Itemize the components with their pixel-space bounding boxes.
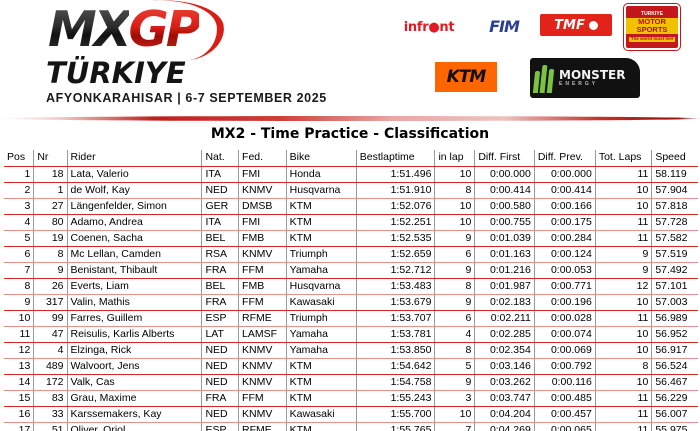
row-nat: FRA — [202, 262, 239, 278]
motorsports-logo-mid: MOTOR SPORTS — [626, 18, 678, 34]
row-fed: FFM — [239, 390, 287, 406]
row-bike: Kawasaki — [286, 406, 356, 422]
row-rider: Everts, Liam — [67, 278, 202, 294]
fim-logo: FIM — [480, 16, 528, 36]
row-rider: Adamo, Andrea — [67, 214, 202, 230]
row-in-lap: 9 — [435, 262, 475, 278]
row-rider: Valin, Mathis — [67, 294, 202, 310]
row-bestlaptime: 1:55.700 — [356, 406, 435, 422]
row-bike: KTM — [286, 358, 356, 374]
monster-energy-logo: MONSTER ENERGY — [530, 58, 640, 98]
row-bestlaptime: 1:53.483 — [356, 278, 435, 294]
table-row[interactable]: 1633Karssemakers, KayNEDKNMVKawasaki1:55… — [4, 406, 698, 422]
row-pos: 17 — [4, 422, 34, 431]
row-diff-prev: 0:00.124 — [534, 246, 595, 262]
results-table: Pos Nr Rider Nat. Fed. Bike Bestlaptime … — [4, 150, 698, 431]
row-diff-prev: 0:00.166 — [534, 198, 595, 214]
event-country: TÜRKIYE — [46, 58, 318, 88]
row-diff-prev: 0:00.457 — [534, 406, 595, 422]
table-row[interactable]: 9317Valin, MathisFRAFFMKawasaki1:53.6799… — [4, 294, 698, 310]
row-speed: 57.818 — [652, 198, 698, 214]
column-header-diff-prev[interactable]: Diff. Prev. — [534, 150, 595, 166]
row-speed: 56.952 — [652, 326, 698, 342]
row-nr: 80 — [34, 214, 67, 230]
header-red-divider — [0, 116, 700, 121]
row-rider: Reisulis, Karlis Alberts — [67, 326, 202, 342]
row-diff-first: 0:04.269 — [475, 422, 535, 431]
row-in-lap: 5 — [435, 358, 475, 374]
mxgp-logo-mx: MX — [48, 1, 129, 58]
row-rider: Coenen, Sacha — [67, 230, 202, 246]
row-tot-laps: 8 — [595, 358, 652, 374]
event-location-date: AFYONKARAHISAR | 6-7 SEPTEMBER 2025 — [46, 91, 318, 105]
row-nat: NED — [202, 342, 239, 358]
row-speed: 56.229 — [652, 390, 698, 406]
row-nr: 99 — [34, 310, 67, 326]
row-speed: 57.904 — [652, 182, 698, 198]
column-header-speed[interactable]: Speed — [652, 150, 698, 166]
row-nr: 33 — [34, 406, 67, 422]
row-tot-laps: 11 — [595, 166, 652, 182]
row-in-lap: 8 — [435, 182, 475, 198]
tmf-logo-label: TMF — [554, 18, 585, 33]
row-bestlaptime: 1:53.679 — [356, 294, 435, 310]
row-fed: KNMV — [239, 246, 287, 262]
table-row[interactable]: 480Adamo, AndreaITAFMIKTM1:52.251100:00.… — [4, 214, 698, 230]
motorsports-logo-bottom: The world must feel — [629, 37, 675, 42]
row-pos: 4 — [4, 214, 34, 230]
row-rider: Karssemakers, Kay — [67, 406, 202, 422]
row-bike: Triumph — [286, 310, 356, 326]
row-diff-first: 0:01.163 — [475, 246, 535, 262]
row-fed: FMB — [239, 230, 287, 246]
row-in-lap: 9 — [435, 374, 475, 390]
table-row[interactable]: 327Längenfelder, SimonGERDMSBKTM1:52.076… — [4, 198, 698, 214]
row-bike: KTM — [286, 422, 356, 431]
column-header-nat[interactable]: Nat. — [202, 150, 239, 166]
row-tot-laps: 9 — [595, 262, 652, 278]
row-diff-prev: 0:00.028 — [534, 310, 595, 326]
row-fed: DMSB — [239, 198, 287, 214]
row-bike: Triumph — [286, 246, 356, 262]
row-in-lap: 10 — [435, 166, 475, 182]
row-in-lap: 10 — [435, 214, 475, 230]
row-bestlaptime: 1:55.765 — [356, 422, 435, 431]
results-table-container: Pos Nr Rider Nat. Fed. Bike Bestlaptime … — [0, 150, 700, 431]
row-bike: KTM — [286, 198, 356, 214]
row-bestlaptime: 1:53.781 — [356, 326, 435, 342]
column-header-pos[interactable]: Pos — [4, 150, 34, 166]
row-rider: Elzinga, Rick — [67, 342, 202, 358]
infront-logo: infr●nt — [398, 18, 460, 36]
row-fed: KNMV — [239, 406, 287, 422]
row-nr: 51 — [34, 422, 67, 431]
row-diff-first: 0:02.183 — [475, 294, 535, 310]
row-pos: 16 — [4, 406, 34, 422]
row-diff-first: 0:03.262 — [475, 374, 535, 390]
column-header-nr[interactable]: Nr — [34, 150, 67, 166]
row-pos: 3 — [4, 198, 34, 214]
row-in-lap: 4 — [435, 326, 475, 342]
column-header-bestlaptime[interactable]: Bestlaptime — [356, 150, 435, 166]
results-table-body: 118Lata, ValerioITAFMIHonda1:51.496100:0… — [4, 166, 698, 431]
ktm-logo: KTM — [435, 62, 497, 92]
column-header-bike[interactable]: Bike — [286, 150, 356, 166]
row-bestlaptime: 1:54.758 — [356, 374, 435, 390]
row-pos: 7 — [4, 262, 34, 278]
monster-claw-icon — [534, 63, 555, 93]
row-nat: ESP — [202, 310, 239, 326]
row-in-lap: 3 — [435, 390, 475, 406]
row-nr: 26 — [34, 278, 67, 294]
row-fed: FFM — [239, 294, 287, 310]
row-nat: ESP — [202, 422, 239, 431]
row-diff-first: 0:01.216 — [475, 262, 535, 278]
row-nr: 489 — [34, 358, 67, 374]
table-row[interactable]: 13489Walvoort, JensNEDKNMVKTM1:54.64250:… — [4, 358, 698, 374]
column-header-fed[interactable]: Fed. — [239, 150, 287, 166]
row-bestlaptime: 1:52.712 — [356, 262, 435, 278]
row-diff-prev: 0:00.074 — [534, 326, 595, 342]
row-bestlaptime: 1:52.076 — [356, 198, 435, 214]
event-header: MXGP TÜRKIYE AFYONKARAHISAR | 6-7 SEPTEM… — [0, 0, 700, 112]
row-in-lap: 7 — [435, 422, 475, 431]
row-nat: NED — [202, 374, 239, 390]
row-bike: Yamaha — [286, 262, 356, 278]
row-bike: Kawasaki — [286, 294, 356, 310]
tmf-dot-icon — [589, 21, 598, 30]
monster-logo-text: MONSTER ENERGY — [559, 69, 625, 87]
row-fed: KNMV — [239, 342, 287, 358]
table-row[interactable]: 118Lata, ValerioITAFMIHonda1:51.496100:0… — [4, 166, 698, 182]
row-tot-laps: 11 — [595, 310, 652, 326]
row-bike: KTM — [286, 230, 356, 246]
row-diff-prev: 0:00.792 — [534, 358, 595, 374]
row-pos: 14 — [4, 374, 34, 390]
row-nr: 47 — [34, 326, 67, 342]
row-in-lap: 10 — [435, 406, 475, 422]
row-rider: Oliver, Oriol — [67, 422, 202, 431]
row-tot-laps: 9 — [595, 246, 652, 262]
row-nat: BEL — [202, 278, 239, 294]
row-tot-laps: 10 — [595, 198, 652, 214]
row-fed: FMI — [239, 214, 287, 230]
column-header-in-lap[interactable]: in lap — [435, 150, 475, 166]
row-speed: 55.975 — [652, 422, 698, 431]
row-pos: 11 — [4, 326, 34, 342]
row-in-lap: 6 — [435, 246, 475, 262]
table-header-row: Pos Nr Rider Nat. Fed. Bike Bestlaptime … — [4, 150, 698, 166]
row-speed: 56.989 — [652, 310, 698, 326]
row-tot-laps: 11 — [595, 214, 652, 230]
row-nat: FRA — [202, 390, 239, 406]
row-rider: Walvoort, Jens — [67, 358, 202, 374]
mxgp-logo-gp: GP — [129, 1, 199, 58]
column-header-rider[interactable]: Rider — [67, 150, 202, 166]
row-fed: FFM — [239, 262, 287, 278]
row-rider: Längenfelder, Simon — [67, 198, 202, 214]
row-speed: 56.524 — [652, 358, 698, 374]
monster-logo-sub: ENERGY — [559, 82, 625, 87]
row-pos: 6 — [4, 246, 34, 262]
monster-logo-label: MONSTER — [559, 69, 625, 82]
row-bike: Husqvarna — [286, 278, 356, 294]
row-bestlaptime: 1:54.642 — [356, 358, 435, 374]
row-fed: KNMV — [239, 374, 287, 390]
row-bike: KTM — [286, 390, 356, 406]
row-pos: 5 — [4, 230, 34, 246]
row-bestlaptime: 1:53.707 — [356, 310, 435, 326]
row-speed: 56.467 — [652, 374, 698, 390]
tmf-logo: TMF — [540, 14, 612, 36]
event-branding: MXGP TÜRKIYE AFYONKARAHISAR | 6-7 SEPTEM… — [28, 4, 318, 105]
row-tot-laps: 10 — [595, 326, 652, 342]
row-diff-first: 0:03.146 — [475, 358, 535, 374]
row-bike: Honda — [286, 166, 356, 182]
row-bestlaptime: 1:51.910 — [356, 182, 435, 198]
table-row[interactable]: 14172Valk, CasNEDKNMVKTM1:54.75890:03.26… — [4, 374, 698, 390]
row-speed: 58.119 — [652, 166, 698, 182]
row-speed: 57.492 — [652, 262, 698, 278]
row-diff-prev: 0:00.000 — [534, 166, 595, 182]
row-bestlaptime: 1:52.535 — [356, 230, 435, 246]
row-nat: NED — [202, 358, 239, 374]
row-bike: KTM — [286, 214, 356, 230]
results-table-head: Pos Nr Rider Nat. Fed. Bike Bestlaptime … — [4, 150, 698, 166]
row-nr: 317 — [34, 294, 67, 310]
column-header-tot-laps[interactable]: Tot. Laps — [595, 150, 652, 166]
row-speed: 56.917 — [652, 342, 698, 358]
row-diff-prev: 0:00.053 — [534, 262, 595, 278]
column-header-diff-first[interactable]: Diff. First — [475, 150, 535, 166]
row-diff-first: 0:00.580 — [475, 198, 535, 214]
row-pos: 10 — [4, 310, 34, 326]
row-rider: de Wolf, Kay — [67, 182, 202, 198]
row-speed: 56.007 — [652, 406, 698, 422]
table-row[interactable]: 21de Wolf, KayNEDKNMVHusqvarna1:51.91080… — [4, 182, 698, 198]
row-tot-laps: 11 — [595, 390, 652, 406]
row-tot-laps: 11 — [595, 406, 652, 422]
row-diff-first: 0:00.000 — [475, 166, 535, 182]
row-in-lap: 9 — [435, 230, 475, 246]
row-nr: 172 — [34, 374, 67, 390]
row-nat: NED — [202, 406, 239, 422]
row-speed: 57.519 — [652, 246, 698, 262]
row-diff-first: 0:00.414 — [475, 182, 535, 198]
row-fed: RFME — [239, 422, 287, 431]
row-nat: ITA — [202, 214, 239, 230]
row-diff-prev: 0:00.284 — [534, 230, 595, 246]
row-diff-prev: 0:00.069 — [534, 342, 595, 358]
results-page: MXGP TÜRKIYE AFYONKARAHISAR | 6-7 SEPTEM… — [0, 0, 700, 431]
row-rider: Valk, Cas — [67, 374, 202, 390]
row-diff-first: 0:00.755 — [475, 214, 535, 230]
row-nat: BEL — [202, 230, 239, 246]
row-nr: 27 — [34, 198, 67, 214]
row-pos: 2 — [4, 182, 34, 198]
row-bike: Yamaha — [286, 342, 356, 358]
row-bestlaptime: 1:53.850 — [356, 342, 435, 358]
row-fed: FMI — [239, 166, 287, 182]
row-bestlaptime: 1:55.243 — [356, 390, 435, 406]
motorsports-federation-logo: TURKIYE MOTOR SPORTS The world must feel — [624, 4, 680, 50]
row-nat: ITA — [202, 166, 239, 182]
row-in-lap: 6 — [435, 310, 475, 326]
row-in-lap: 8 — [435, 342, 475, 358]
row-diff-first: 0:01.039 — [475, 230, 535, 246]
row-tot-laps: 10 — [595, 294, 652, 310]
row-tot-laps: 12 — [595, 278, 652, 294]
row-speed: 57.582 — [652, 230, 698, 246]
row-in-lap: 9 — [435, 294, 475, 310]
row-diff-first: 0:03.747 — [475, 390, 535, 406]
row-bike: Husqvarna — [286, 182, 356, 198]
row-nat: LAT — [202, 326, 239, 342]
row-diff-prev: 0:00.116 — [534, 374, 595, 390]
row-pos: 12 — [4, 342, 34, 358]
mxgp-logo: MXGP — [48, 4, 318, 56]
row-fed: KNMV — [239, 182, 287, 198]
row-nat: NED — [202, 182, 239, 198]
row-nat: FRA — [202, 294, 239, 310]
row-in-lap: 8 — [435, 278, 475, 294]
table-row[interactable]: 1751Oliver, OriolESPRFMEKTM1:55.76570:04… — [4, 422, 698, 431]
row-diff-first: 0:02.285 — [475, 326, 535, 342]
row-in-lap: 10 — [435, 198, 475, 214]
row-diff-prev: 0:00.771 — [534, 278, 595, 294]
row-fed: KNMV — [239, 358, 287, 374]
row-diff-first: 0:01.987 — [475, 278, 535, 294]
sponsor-logos: infr●nt FIM TMF TURKIYE MOTOR SPORTS The… — [380, 0, 700, 112]
row-tot-laps: 11 — [595, 422, 652, 431]
row-nr: 19 — [34, 230, 67, 246]
row-nat: RSA — [202, 246, 239, 262]
row-nr: 4 — [34, 342, 67, 358]
row-diff-prev: 0:00.414 — [534, 182, 595, 198]
table-row[interactable]: 826Everts, LiamBELFMBHusqvarna1:53.48380… — [4, 278, 698, 294]
row-speed: 57.728 — [652, 214, 698, 230]
table-row[interactable]: 519Coenen, SachaBELFMBKTM1:52.53590:01.0… — [4, 230, 698, 246]
row-bestlaptime: 1:52.251 — [356, 214, 435, 230]
row-fed: LAMSF — [239, 326, 287, 342]
row-bike: KTM — [286, 374, 356, 390]
row-pos: 9 — [4, 294, 34, 310]
row-speed: 57.003 — [652, 294, 698, 310]
row-pos: 13 — [4, 358, 34, 374]
row-speed: 57.101 — [652, 278, 698, 294]
row-rider: Mc Lellan, Camden — [67, 246, 202, 262]
row-nr: 1 — [34, 182, 67, 198]
row-tot-laps: 10 — [595, 342, 652, 358]
page-title: MX2 - Time Practice - Classification — [0, 126, 700, 142]
row-nat: GER — [202, 198, 239, 214]
row-rider: Grau, Maxime — [67, 390, 202, 406]
table-row[interactable]: 68Mc Lellan, CamdenRSAKNMVTriumph1:52.65… — [4, 246, 698, 262]
row-nr: 9 — [34, 262, 67, 278]
row-pos: 15 — [4, 390, 34, 406]
row-diff-prev: 0:00.485 — [534, 390, 595, 406]
table-row[interactable]: 124Elzinga, RickNEDKNMVYamaha1:53.85080:… — [4, 342, 698, 358]
row-diff-prev: 0:00.065 — [534, 422, 595, 431]
row-bestlaptime: 1:51.496 — [356, 166, 435, 182]
row-bike: Yamaha — [286, 326, 356, 342]
row-nr: 83 — [34, 390, 67, 406]
row-nr: 8 — [34, 246, 67, 262]
row-tot-laps: 10 — [595, 374, 652, 390]
row-rider: Farres, Guillem — [67, 310, 202, 326]
row-fed: FMB — [239, 278, 287, 294]
row-bestlaptime: 1:52.659 — [356, 246, 435, 262]
table-row[interactable]: 79Benistant, ThibaultFRAFFMYamaha1:52.71… — [4, 262, 698, 278]
row-pos: 1 — [4, 166, 34, 182]
row-diff-prev: 0:00.196 — [534, 294, 595, 310]
table-row[interactable]: 1583Grau, MaximeFRAFFMKTM1:55.24330:03.7… — [4, 390, 698, 406]
row-rider: Benistant, Thibault — [67, 262, 202, 278]
table-row[interactable]: 1099Farres, GuillemESPRFMETriumph1:53.70… — [4, 310, 698, 326]
row-diff-first: 0:02.211 — [475, 310, 535, 326]
row-diff-first: 0:04.204 — [475, 406, 535, 422]
row-tot-laps: 11 — [595, 230, 652, 246]
table-row[interactable]: 1147Reisulis, Karlis AlbertsLATLAMSFYama… — [4, 326, 698, 342]
row-fed: RFME — [239, 310, 287, 326]
row-nr: 18 — [34, 166, 67, 182]
row-diff-first: 0:02.354 — [475, 342, 535, 358]
row-rider: Lata, Valerio — [67, 166, 202, 182]
row-pos: 8 — [4, 278, 34, 294]
row-diff-prev: 0:00.175 — [534, 214, 595, 230]
row-tot-laps: 10 — [595, 182, 652, 198]
